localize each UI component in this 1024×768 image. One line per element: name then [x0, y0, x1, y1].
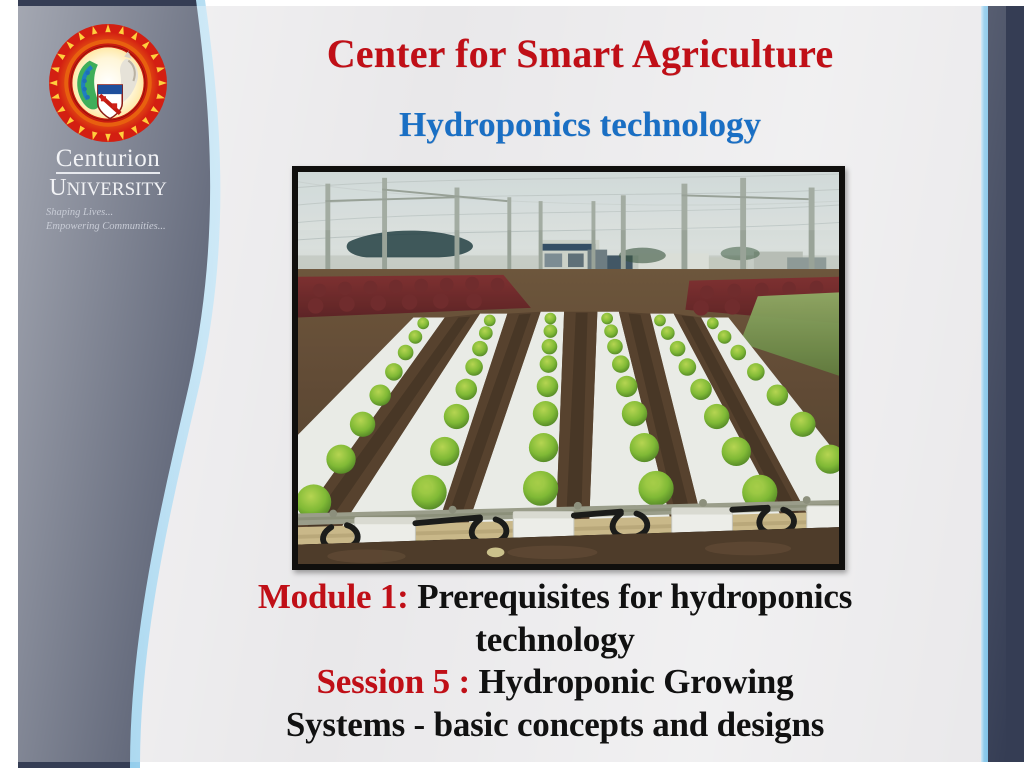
- caption-module-text: Prerequisites for hydroponics: [409, 577, 853, 616]
- logo-name-centurion: Centurion: [56, 146, 161, 174]
- caption-module-label: Module 1:: [258, 577, 409, 616]
- logo-name-university: UNIVERSITY: [40, 176, 176, 200]
- caption-session-line: Session 5 : Hydroponic Growing: [150, 661, 960, 704]
- logo-tagline-line-1: Shaping Lives...: [46, 206, 176, 220]
- caption-module-line: Module 1: Prerequisites for hydroponics: [150, 576, 960, 619]
- slide-title: Center for Smart Agriculture: [210, 30, 950, 77]
- logo-tagline-line-2: Empowering Communities...: [46, 220, 176, 234]
- caption-module-line-2: technology: [150, 619, 960, 662]
- hydroponics-photo: [292, 166, 845, 570]
- centurion-university-crest-icon: [47, 22, 169, 144]
- caption-session-line-2: Systems - basic concepts and designs: [150, 704, 960, 747]
- right-navy-band: [988, 6, 1024, 762]
- slide-caption: Module 1: Prerequisites for hydroponics …: [150, 576, 960, 747]
- university-logo-block: Centurion UNIVERSITY Shaping Lives... Em…: [40, 22, 176, 234]
- slide-canvas: Centurion UNIVERSITY Shaping Lives... Em…: [0, 0, 1024, 768]
- logo-tagline: Shaping Lives... Empowering Communities.…: [40, 206, 176, 234]
- right-blue-rule: [981, 6, 988, 762]
- hydroponics-photo-graphic: [298, 172, 839, 564]
- caption-session-label: Session 5 :: [317, 662, 470, 701]
- slide-subtitle: Hydroponics technology: [210, 105, 950, 145]
- caption-session-text: Hydroponic Growing: [470, 662, 794, 701]
